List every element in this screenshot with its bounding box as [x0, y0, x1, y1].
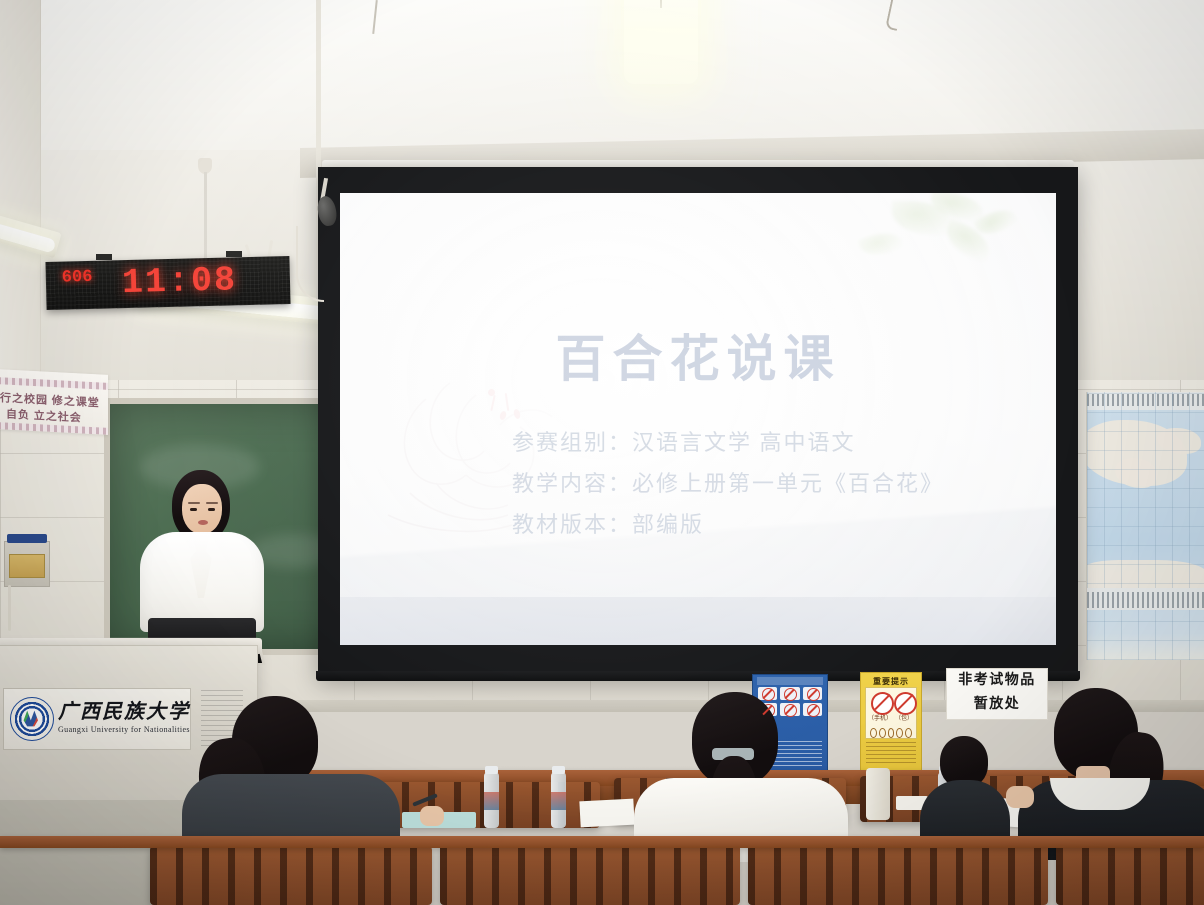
slide-bottom-band: [340, 597, 1056, 645]
wall-calligraphy-banner: 行之校园 修之课堂 自负 立之社会: [0, 369, 108, 435]
bench-slats: [1056, 840, 1204, 905]
emblem-flame-mark: [22, 709, 42, 727]
slide-line-group: 参赛组别：汉语言文学 高中语文: [512, 425, 1032, 460]
banner-border-top: [0, 377, 108, 390]
audience-hand-with-pen: [420, 806, 444, 826]
presenter-face: [182, 484, 222, 534]
presenter-eye: [190, 508, 197, 511]
university-plaque: 广西民族大学 Guangxi University for Nationalit…: [3, 688, 191, 750]
slide-body: 参赛组别：汉语言文学 高中语文 教学内容：必修上册第一单元《百合花》 教材版本：…: [512, 425, 1032, 548]
led-room-number: 606: [62, 268, 93, 288]
electrical-box-lid: [7, 534, 47, 543]
slide-line-edition: 教材版本：部编版: [512, 507, 1032, 542]
bench-slats: [150, 846, 432, 905]
audience-hand: [1006, 786, 1034, 808]
leaf-decoration: [858, 227, 905, 261]
led-mount-bracket: [226, 251, 242, 257]
no-bag-label: （包）: [892, 713, 916, 722]
notice-symbol: [888, 728, 895, 738]
presenter-eye: [208, 508, 215, 511]
desk-front-row: [0, 836, 1204, 848]
bottle-cap: [552, 766, 565, 774]
bench-front-right: [748, 842, 1048, 905]
presenter: [128, 470, 278, 655]
poster-header-bar: [757, 677, 823, 685]
electrical-box-label: [9, 554, 45, 578]
led-clock-display: 606 11:08: [45, 256, 290, 310]
presenter-brow: [206, 502, 218, 504]
bench-slats: [748, 842, 1048, 905]
audience-member-2: [640, 692, 840, 858]
presenter-mouth: [198, 520, 208, 525]
map-legend-text: [1087, 592, 1204, 608]
presenter-brow: [188, 502, 200, 504]
notice-fine-print: [866, 741, 916, 763]
electrical-box[interactable]: [4, 541, 50, 587]
notice-symbol: [879, 728, 886, 738]
university-emblem-icon: [10, 697, 54, 741]
led-time: 11:08: [122, 260, 238, 303]
bottle-label: [551, 792, 566, 810]
notice-icon-card: （手机） （包）: [865, 687, 917, 739]
audience-member-3: [1024, 688, 1204, 858]
notice-symbol: [870, 728, 877, 738]
bench-front-far-right: [1056, 840, 1204, 905]
no-phone-label: （手机）: [868, 713, 892, 722]
university-name-en: Guangxi University for Nationalities: [58, 725, 190, 734]
thermos-cup: [866, 768, 890, 820]
notice-symbol: [896, 728, 903, 738]
bottle-label: [484, 792, 499, 810]
paper-document: [579, 799, 634, 828]
slide-title: 百合花说课: [340, 319, 1056, 391]
left-wall-column: [0, 0, 41, 420]
notice-symbol-row: [870, 728, 912, 736]
map-graticule: [1087, 392, 1204, 660]
ceiling-lamp: [624, 0, 698, 84]
classroom-scene: 行之校园 修之课堂 自负 立之社会 606 11:08: [0, 0, 1204, 905]
projection-screen-frame: 百合花说课 参赛组别：汉语言文学 高中语文 教学内容：必修上册第一单元《百合花》…: [318, 167, 1078, 677]
audience-member-4: [930, 736, 1000, 846]
electrical-box-cable: [8, 585, 11, 631]
university-name-cn: 广西民族大学: [58, 695, 190, 724]
bench-front-mid: [440, 844, 740, 905]
world-map-poster: [1086, 392, 1204, 660]
projection-screen-surface: 百合花说课 参赛组别：汉语言文学 高中语文 教学内容：必修上册第一单元《百合花》…: [340, 193, 1056, 645]
no-bag-icon: [894, 692, 917, 715]
yellow-notice-poster: 重要提示 （手机） （包）: [860, 672, 922, 772]
audience-member-1: [190, 696, 390, 856]
bottle-cap: [485, 766, 498, 774]
bench-slats: [440, 844, 740, 905]
slide-line-content: 教学内容：必修上册第一单元《百合花》: [512, 466, 1032, 501]
no-phone-icon: [871, 692, 894, 715]
notice-symbol: [905, 728, 912, 738]
led-mount-bracket: [96, 254, 112, 260]
bench-front-left: [150, 846, 432, 905]
notice-title: 重要提示: [861, 676, 921, 687]
